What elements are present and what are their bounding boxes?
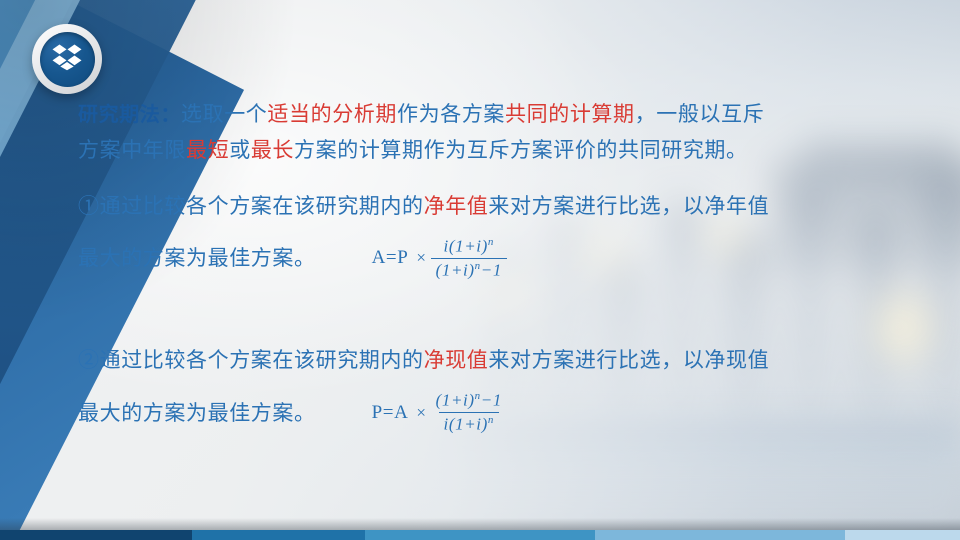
paragraph-lead: 研究期法：选取一个适当的分析期作为各方案共同的计算期，一般以互斥 方案中年限最短… xyxy=(78,96,878,168)
item2-text-1: ②通过比较各个方案在该研究期内的 xyxy=(78,348,424,372)
lead-line2-highlight-1: 最短 xyxy=(186,138,229,162)
multiply-icon: × xyxy=(416,238,426,278)
numerator-tail: −1 xyxy=(481,391,502,410)
numerator-base: (1+i) xyxy=(436,391,475,410)
formula-lead: P=A xyxy=(372,393,409,433)
fraction-numerator: i(1+i)n xyxy=(439,236,499,258)
slide-body: 研究期法：选取一个适当的分析期作为各方案共同的计算期，一般以互斥 方案中年限最短… xyxy=(78,96,878,435)
item1-text-2: 来对方案进行比选，以净年值 xyxy=(488,194,769,218)
item1-tail-text: 最大的方案为最佳方案。 xyxy=(78,238,316,278)
bottom-bar-shadow xyxy=(0,518,960,530)
numerator-exponent: n xyxy=(488,236,494,248)
formula-lead: A=P xyxy=(372,238,409,278)
multiply-icon: × xyxy=(416,393,426,433)
logo-circle xyxy=(40,32,95,87)
text-line: 研究期法：选取一个适当的分析期作为各方案共同的计算期，一般以互斥 xyxy=(78,96,878,132)
item1-highlight: 净年值 xyxy=(424,194,489,218)
fraction-denominator: i(1+i)n xyxy=(439,412,499,435)
fraction-denominator: (1+i)n−1 xyxy=(431,258,507,281)
bar-segment xyxy=(365,530,595,540)
lead-line2-text-3: 方案的计算期作为互斥方案评价的共同研究期。 xyxy=(294,138,748,162)
text-line: 方案中年限最短或最长方案的计算期作为互斥方案评价的共同研究期。 xyxy=(78,132,878,168)
bar-segment xyxy=(845,530,960,540)
lead-text-3: ，一般以互斥 xyxy=(635,102,765,126)
numerator-base: i(1+i) xyxy=(444,237,488,256)
item1-formula-row: 最大的方案为最佳方案。 A=P × i(1+i)n (1+i)n−1 xyxy=(78,236,878,280)
presentation-slide: 研究期法：选取一个适当的分析期作为各方案共同的计算期，一般以互斥 方案中年限最短… xyxy=(0,0,960,540)
fraction-numerator: (1+i)n−1 xyxy=(431,390,507,412)
item2-text-2: 来对方案进行比选，以净现值 xyxy=(488,348,769,372)
denominator-tail: −1 xyxy=(481,260,502,279)
item2-tail-text: 最大的方案为最佳方案。 xyxy=(78,393,316,433)
text-line: ①通过比较各个方案在该研究期内的净年值来对方案进行比选，以净年值 xyxy=(78,188,878,224)
lead-line2-text-1: 方案中年限 xyxy=(78,138,186,162)
fraction: i(1+i)n (1+i)n−1 xyxy=(431,236,507,280)
bottom-color-bar xyxy=(0,530,960,540)
item2-highlight: 净现值 xyxy=(424,348,489,372)
lead-highlight-2: 共同的计算期 xyxy=(505,102,635,126)
fraction: (1+i)n−1 i(1+i)n xyxy=(431,390,507,434)
lead-text-2: 作为各方案 xyxy=(397,102,505,126)
denominator-base: i(1+i) xyxy=(444,415,488,434)
lead-text: 选取一个 xyxy=(181,102,267,126)
item2-formula-row: 最大的方案为最佳方案。 P=A × (1+i)n−1 i(1+i)n xyxy=(78,390,878,434)
denominator-exponent: n xyxy=(488,414,494,426)
item1-text-1: ①通过比较各个方案在该研究期内的 xyxy=(78,194,424,218)
bar-segment xyxy=(595,530,845,540)
bar-segment xyxy=(0,530,192,540)
logo-badge xyxy=(32,24,102,94)
lead-highlight-1: 适当的分析期 xyxy=(267,102,397,126)
lead-heading: 研究期法： xyxy=(78,102,181,126)
lead-line2-text-2: 或 xyxy=(229,138,251,162)
present-value-formula: P=A × (1+i)n−1 i(1+i)n xyxy=(372,390,507,434)
paragraph-item-1: ①通过比较各个方案在该研究期内的净年值来对方案进行比选，以净年值 最大的方案为最… xyxy=(78,188,878,280)
annual-value-formula: A=P × i(1+i)n (1+i)n−1 xyxy=(372,236,507,280)
bar-segment xyxy=(192,530,365,540)
text-line: ②通过比较各个方案在该研究期内的净现值来对方案进行比选，以净现值 xyxy=(78,342,878,378)
dropbox-logo-icon xyxy=(52,43,82,76)
paragraph-item-2: ②通过比较各个方案在该研究期内的净现值来对方案进行比选，以净现值 最大的方案为最… xyxy=(78,342,878,434)
lead-line2-highlight-2: 最长 xyxy=(251,138,294,162)
denominator-base: (1+i) xyxy=(436,260,475,279)
